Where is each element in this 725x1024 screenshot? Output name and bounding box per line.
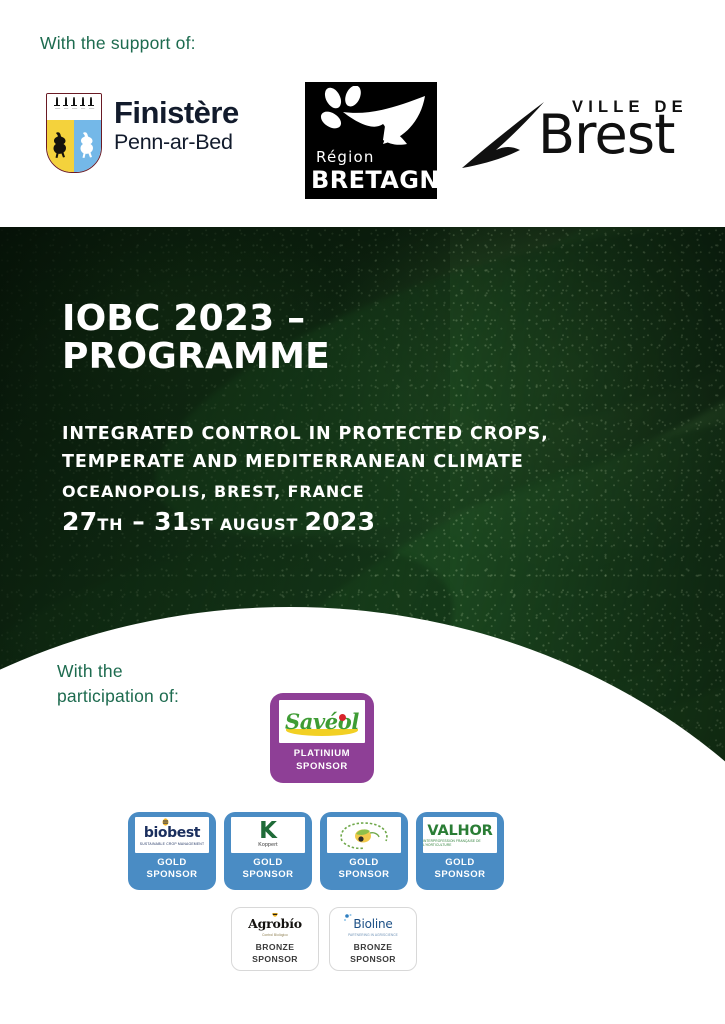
saveol-wordmark: Savéol (285, 709, 359, 734)
platinum-tier-line1: PLATINIUM (294, 748, 350, 761)
bioline-tagline: PARTNERING IN AGRISCIENCE (348, 933, 398, 937)
koppert-wordmark: Koppert (258, 842, 278, 848)
biobest-logo: biobest SUSTAINABLE CROP MANAGEMENT (135, 817, 209, 853)
bee-icon (270, 913, 280, 917)
brest-sail-icon (460, 102, 546, 172)
region-bretagne-logo: Région BRETAGNE (305, 82, 437, 199)
date-suffix-end: ST (190, 515, 214, 534)
hero-subtitle-line1: INTEGRATED CONTROL IN PROTECTED CROPS, (62, 420, 582, 448)
agrobio-wordmark: Agrobío (248, 916, 302, 931)
gold-tier-label: GOLD SPONSOR (146, 857, 197, 882)
gold-tier-label: GOLD SPONSOR (434, 857, 485, 882)
hero-dates: 27TH – 31ST AUGUST 2023 (62, 506, 582, 537)
date-month: AUGUST (214, 515, 305, 534)
bronze-tier-label: BRONZE SPONSOR (252, 942, 298, 965)
lion-black-icon (50, 130, 72, 164)
brest-name-label: Brest (538, 108, 675, 162)
bronze-sponsor-badge-agrobio[interactable]: Agrobío Control Biológico BRONZE SPONSOR (231, 907, 319, 971)
page-title: IOBC 2023 – PROGRAMME (62, 300, 582, 376)
hero-title-block: IOBC 2023 – PROGRAMME INTEGRATED CONTROL… (62, 300, 582, 538)
ville-de-brest-logo: VILLE DE Brest (460, 92, 700, 180)
saveol-accent-dot-icon (339, 714, 346, 721)
green-sponsor-logo (327, 817, 401, 853)
bronze-tier-line2: SPONSOR (350, 954, 396, 966)
gold-tier-line1: GOLD (338, 857, 389, 869)
bronze-tier-label: BRONZE SPONSOR (350, 942, 396, 965)
saveol-logo: Savéol (279, 700, 365, 743)
hero-subtitle-line2: TEMPERATE AND MEDITERRANEAN CLIMATE (62, 448, 582, 476)
date-suffix-start: TH (97, 515, 123, 534)
bronze-sponsor-badge-bioline[interactable]: Bioline PARTNERING IN AGRISCIENCE BRONZE… (329, 907, 417, 971)
biobest-tagline: SUSTAINABLE CROP MANAGEMENT (140, 842, 204, 846)
bretagne-region-label: Région (316, 148, 375, 166)
bretagne-ermine-icon (313, 86, 429, 156)
support-band: With the support of: (0, 0, 725, 227)
valhor-tagline: INTERPROFESSION FRANÇAISE DE L'HORTICULT… (423, 839, 497, 847)
koppert-k-mark: K (259, 822, 277, 842)
bronze-sponsor-row: Agrobío Control Biológico BRONZE SPONSOR (231, 907, 501, 971)
finistere-title: Finistère (114, 97, 239, 128)
date-day-end: 31 (154, 507, 189, 536)
gold-sponsor-badge-koppert[interactable]: K Koppert GOLD SPONSOR (224, 812, 312, 890)
bretagne-name-label: BRETAGNE (311, 166, 437, 194)
bee-icon (160, 817, 171, 826)
lion-white-icon (77, 130, 99, 164)
biobest-wordmark: biobest (144, 825, 200, 841)
programme-cover: With the support of: (0, 0, 725, 1024)
participation-label-line2: participation of: (57, 684, 179, 709)
gold-tier-line2: SPONSOR (338, 869, 389, 881)
finistere-logo: Finistère Penn-ar-Bed (44, 93, 284, 188)
date-dash: – (123, 507, 154, 536)
platinum-tier-label: PLATINIUM SPONSOR (294, 748, 350, 774)
bronze-tier-line1: BRONZE (350, 942, 396, 954)
hero-venue: OCEANOPOLIS, BREST, FRANCE (62, 480, 582, 504)
valhor-wordmark: VALHOR (427, 823, 492, 839)
participation-label: With the participation of: (57, 659, 179, 710)
koppert-logo: K Koppert (231, 817, 305, 853)
platinum-sponsor-badge[interactable]: Savéol PLATINIUM SPONSOR (270, 693, 374, 783)
support-logos: Finistère Penn-ar-Bed Région BRETAGNE (0, 78, 725, 198)
gold-sponsor-badge-valhor[interactable]: VALHOR INTERPROFESSION FRANÇAISE DE L'HO… (416, 812, 504, 890)
agrobio-tagline: Control Biológico (262, 933, 288, 937)
valhor-logo: VALHOR INTERPROFESSION FRANÇAISE DE L'HO… (423, 817, 497, 853)
bioline-logo: Bioline PARTNERING IN AGRISCIENCE (336, 913, 410, 939)
gold-tier-line2: SPONSOR (242, 869, 293, 881)
finistere-shield-icon (44, 93, 106, 181)
bronze-tier-line2: SPONSOR (252, 954, 298, 966)
agrobio-logo: Agrobío Control Biológico (238, 913, 312, 939)
gold-tier-line2: SPONSOR (434, 869, 485, 881)
gold-sponsor-badge-biobest[interactable]: biobest SUSTAINABLE CROP MANAGEMENT GOLD… (128, 812, 216, 890)
bioline-wordmark: Bioline (353, 917, 392, 931)
date-day-start: 27 (62, 507, 97, 536)
gold-tier-line1: GOLD (146, 857, 197, 869)
bioline-dots-icon (342, 914, 354, 923)
leaf-circle-icon (332, 819, 396, 851)
platinum-tier-line2: SPONSOR (294, 761, 350, 774)
gold-tier-line1: GOLD (434, 857, 485, 869)
participation-label-line1: With the (57, 659, 179, 684)
gold-tier-line1: GOLD (242, 857, 293, 869)
gold-tier-label: GOLD SPONSOR (242, 857, 293, 882)
bronze-tier-line1: BRONZE (252, 942, 298, 954)
gold-tier-line2: SPONSOR (146, 869, 197, 881)
gold-tier-label: GOLD SPONSOR (338, 857, 389, 882)
gold-sponsor-badge-green[interactable]: GOLD SPONSOR (320, 812, 408, 890)
date-year: 2023 (305, 507, 376, 536)
support-label: With the support of: (40, 33, 196, 54)
hero-subtitle: INTEGRATED CONTROL IN PROTECTED CROPS, T… (62, 420, 582, 477)
finistere-subtitle: Penn-ar-Bed (114, 131, 239, 155)
gold-sponsor-row: biobest SUSTAINABLE CROP MANAGEMENT GOLD… (128, 812, 598, 890)
participation-section: With the participation of: Savéol PLATIN… (0, 607, 725, 1024)
